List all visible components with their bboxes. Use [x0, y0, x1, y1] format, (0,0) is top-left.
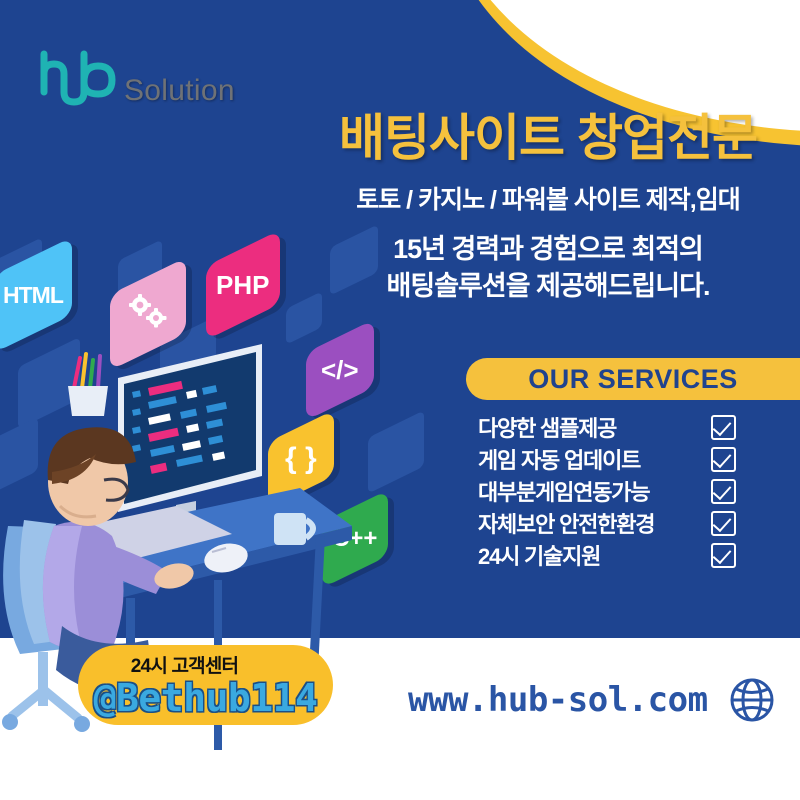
gears-icon [126, 294, 170, 335]
our-services-banner: OUR SERVICES [466, 358, 800, 400]
promo-banner: Solution 배팅사이트 창업전문 토토 / 카지노 / 파워볼 사이트 제… [0, 0, 800, 800]
website-url[interactable]: www.hub-sol.com [408, 680, 708, 720]
tech-badge-php-label: PHP [216, 270, 269, 301]
checkbox-checked-icon [711, 479, 736, 504]
contact-pill[interactable]: 24시 고객센터 @Bethub114 [78, 645, 333, 725]
checkbox-checked-icon [711, 543, 736, 568]
headline-description-line1: 15년 경력과 경험으로 최적의 [318, 232, 778, 267]
headline-subtitle: 토토 / 카지노 / 파워볼 사이트 제작,임대 [318, 180, 778, 216]
list-item: 다양한 샘플제공 [478, 412, 736, 442]
our-services-title: OUR SERVICES [528, 364, 738, 395]
page-title: 배팅사이트 창업전문 [318, 110, 778, 166]
services-list: 다양한 샘플제공 게임 자동 업데이트 대부분게임연동가능 자체보안 안전한환경… [478, 412, 736, 572]
contact-handle: @Bethub114 [94, 676, 318, 720]
checkbox-checked-icon [711, 511, 736, 536]
website-row[interactable]: www.hub-sol.com [408, 678, 774, 722]
service-label: 자체보안 안전한환경 [478, 507, 654, 539]
list-item: 자체보안 안전한환경 [478, 508, 736, 538]
service-label: 다양한 샘플제공 [478, 411, 616, 443]
service-label: 대부분게임연동가능 [478, 475, 649, 507]
hub-logo-mark [36, 48, 122, 110]
bg-square [368, 410, 424, 493]
list-item: 24시 기술지원 [478, 540, 736, 570]
service-label: 게임 자동 업데이트 [478, 443, 640, 475]
pencil-cup-illustration [68, 354, 108, 416]
tech-badge-php: PHP [206, 230, 280, 340]
list-item: 게임 자동 업데이트 [478, 444, 736, 474]
headline-description-line2: 배팅솔루션을 제공해드립니다. [318, 269, 778, 304]
globe-icon [730, 678, 774, 722]
brand-logo: Solution [36, 48, 235, 110]
service-label: 24시 기술지원 [478, 539, 600, 571]
logo-wordmark: Solution [124, 74, 235, 108]
contact-pill-label: 24시 고객센터 [131, 651, 238, 678]
checkbox-checked-icon [711, 447, 736, 472]
checkbox-checked-icon [711, 415, 736, 440]
headline-block: 배팅사이트 창업전문 토토 / 카지노 / 파워볼 사이트 제작,임대 15년 … [318, 110, 778, 303]
tech-badge-html-label: HTML [3, 282, 63, 309]
developer-at-desk-illustration [0, 330, 360, 800]
list-item: 대부분게임연동가능 [478, 476, 736, 506]
